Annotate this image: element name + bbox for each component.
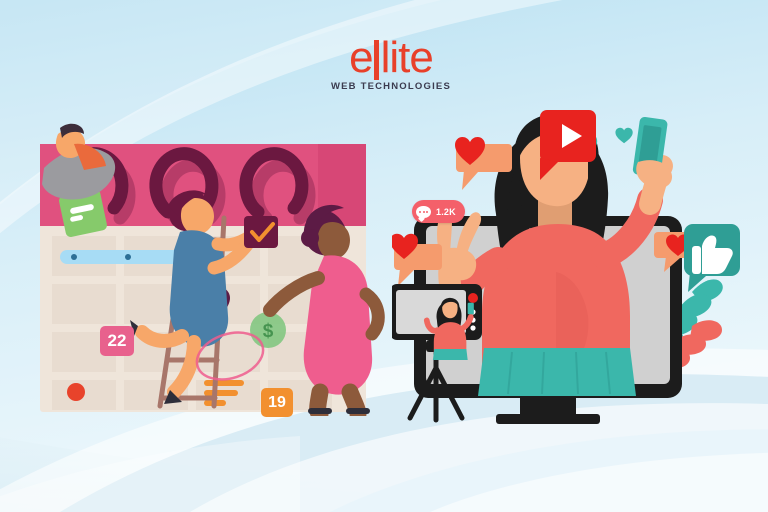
logo-letter-e: e [349,36,372,80]
record-indicator [468,293,478,303]
comment-count-badge[interactable]: 1.2K [412,200,465,223]
comment-icon [416,206,431,218]
logo-divider-bar [374,40,379,80]
check-icon [244,216,278,248]
logo-letters-lite: lite [381,36,433,80]
background-figure [42,124,115,200]
dollar-icon: $ [250,312,286,348]
calendar-date-22: 22 [100,326,134,356]
comment-count-label: 1.2K [436,207,456,217]
video-illustration: 1.2K [392,96,752,426]
svg-text:$: $ [263,321,274,342]
calendar-graphic: $ [18,108,394,416]
phone-in-hand [632,116,672,188]
calendar-date-19: 19 [261,388,293,417]
calendar-illustration: $ [18,108,394,416]
brand-logo: e lite WEB TECHNOLOGIES [326,36,456,92]
logo-wordmark: e lite [326,36,456,80]
illustration-canvas: e lite WEB TECHNOLOGIES [0,0,768,512]
red-dot-marker [67,383,85,401]
logo-tagline: WEB TECHNOLOGIES [326,81,456,92]
skirt [478,348,636,396]
monitor-base [496,414,600,424]
streaming-graphic [392,96,752,426]
